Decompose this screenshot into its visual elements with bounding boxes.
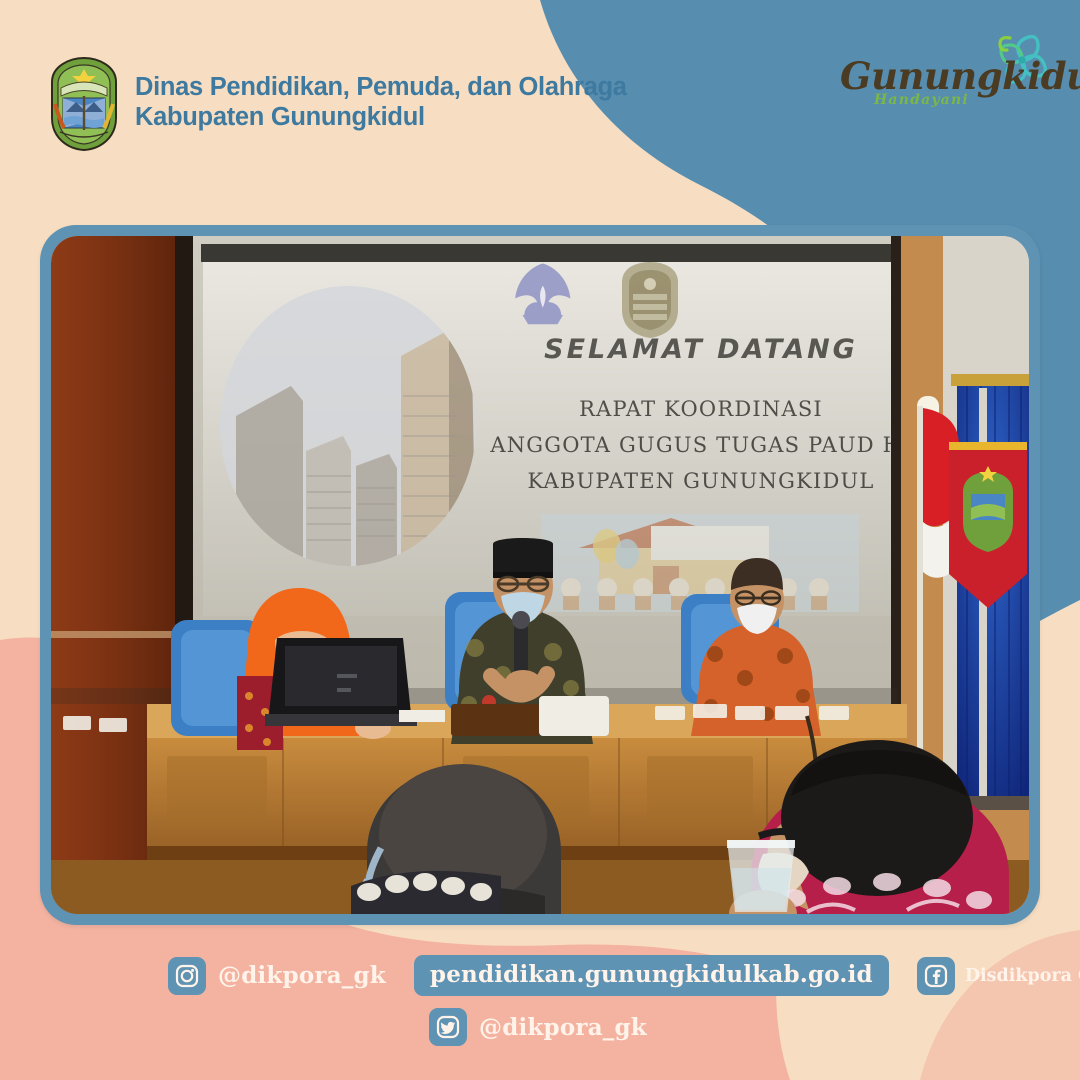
- meeting-photo-illustration: SELAMAT DATANG RAPAT KOORDINASI ANGGOTA …: [51, 236, 1029, 914]
- photo-frame: SELAMAT DATANG RAPAT KOORDINASI ANGGOTA …: [40, 225, 1040, 925]
- website-url-pill[interactable]: pendidikan.gunungkidulkab.go.id: [414, 955, 889, 996]
- meeting-photo: SELAMAT DATANG RAPAT KOORDINASI ANGGOTA …: [51, 236, 1029, 914]
- page-header: Dinas Pendidikan, Pemuda, dan Olahraga K…: [0, 0, 1080, 200]
- slide-line3: KABUPATEN GUNUNGKIDUL: [527, 469, 874, 493]
- brand-tagline: Handayani: [874, 92, 969, 108]
- twitter-icon[interactable]: [429, 1008, 467, 1046]
- footer-row-twitter: @dikpora_gk: [429, 1008, 647, 1046]
- slide-line1: RAPAT KOORDINASI: [579, 397, 823, 421]
- twitter-handle[interactable]: @dikpora_gk: [479, 1014, 647, 1041]
- page-title-line2: Kabupaten Gunungkidul: [135, 102, 627, 132]
- page-title: Dinas Pendidikan, Pemuda, dan Olahraga K…: [135, 72, 627, 132]
- laptop: [265, 638, 417, 726]
- gunungkidul-coat-of-arms-icon: [46, 56, 122, 152]
- instagram-icon[interactable]: [168, 957, 206, 995]
- slide-line2: ANGGOTA GUGUS TUGAS PAUD HI: [489, 433, 911, 457]
- gunungkidul-brandmark: Gunungkidul Handayani: [834, 34, 1054, 120]
- facebook-page-name[interactable]: Disdikpora Gunungkidul: [965, 966, 1080, 986]
- social-footer: @dikpora_gk pendidikan.gunungkidulkab.go…: [0, 935, 1080, 1080]
- footer-row-primary: @dikpora_gk pendidikan.gunungkidulkab.go…: [168, 955, 1080, 996]
- slide-welcome-text: SELAMAT DATANG: [544, 334, 858, 365]
- gunungkidul-crest-logo: [622, 262, 678, 338]
- facebook-block[interactable]: Disdikpora Gunungkidul: [917, 957, 1080, 995]
- page-title-line1: Dinas Pendidikan, Pemuda, dan Olahraga: [135, 73, 627, 101]
- instagram-handle[interactable]: @dikpora_gk: [218, 962, 386, 989]
- facebook-icon[interactable]: [917, 957, 955, 995]
